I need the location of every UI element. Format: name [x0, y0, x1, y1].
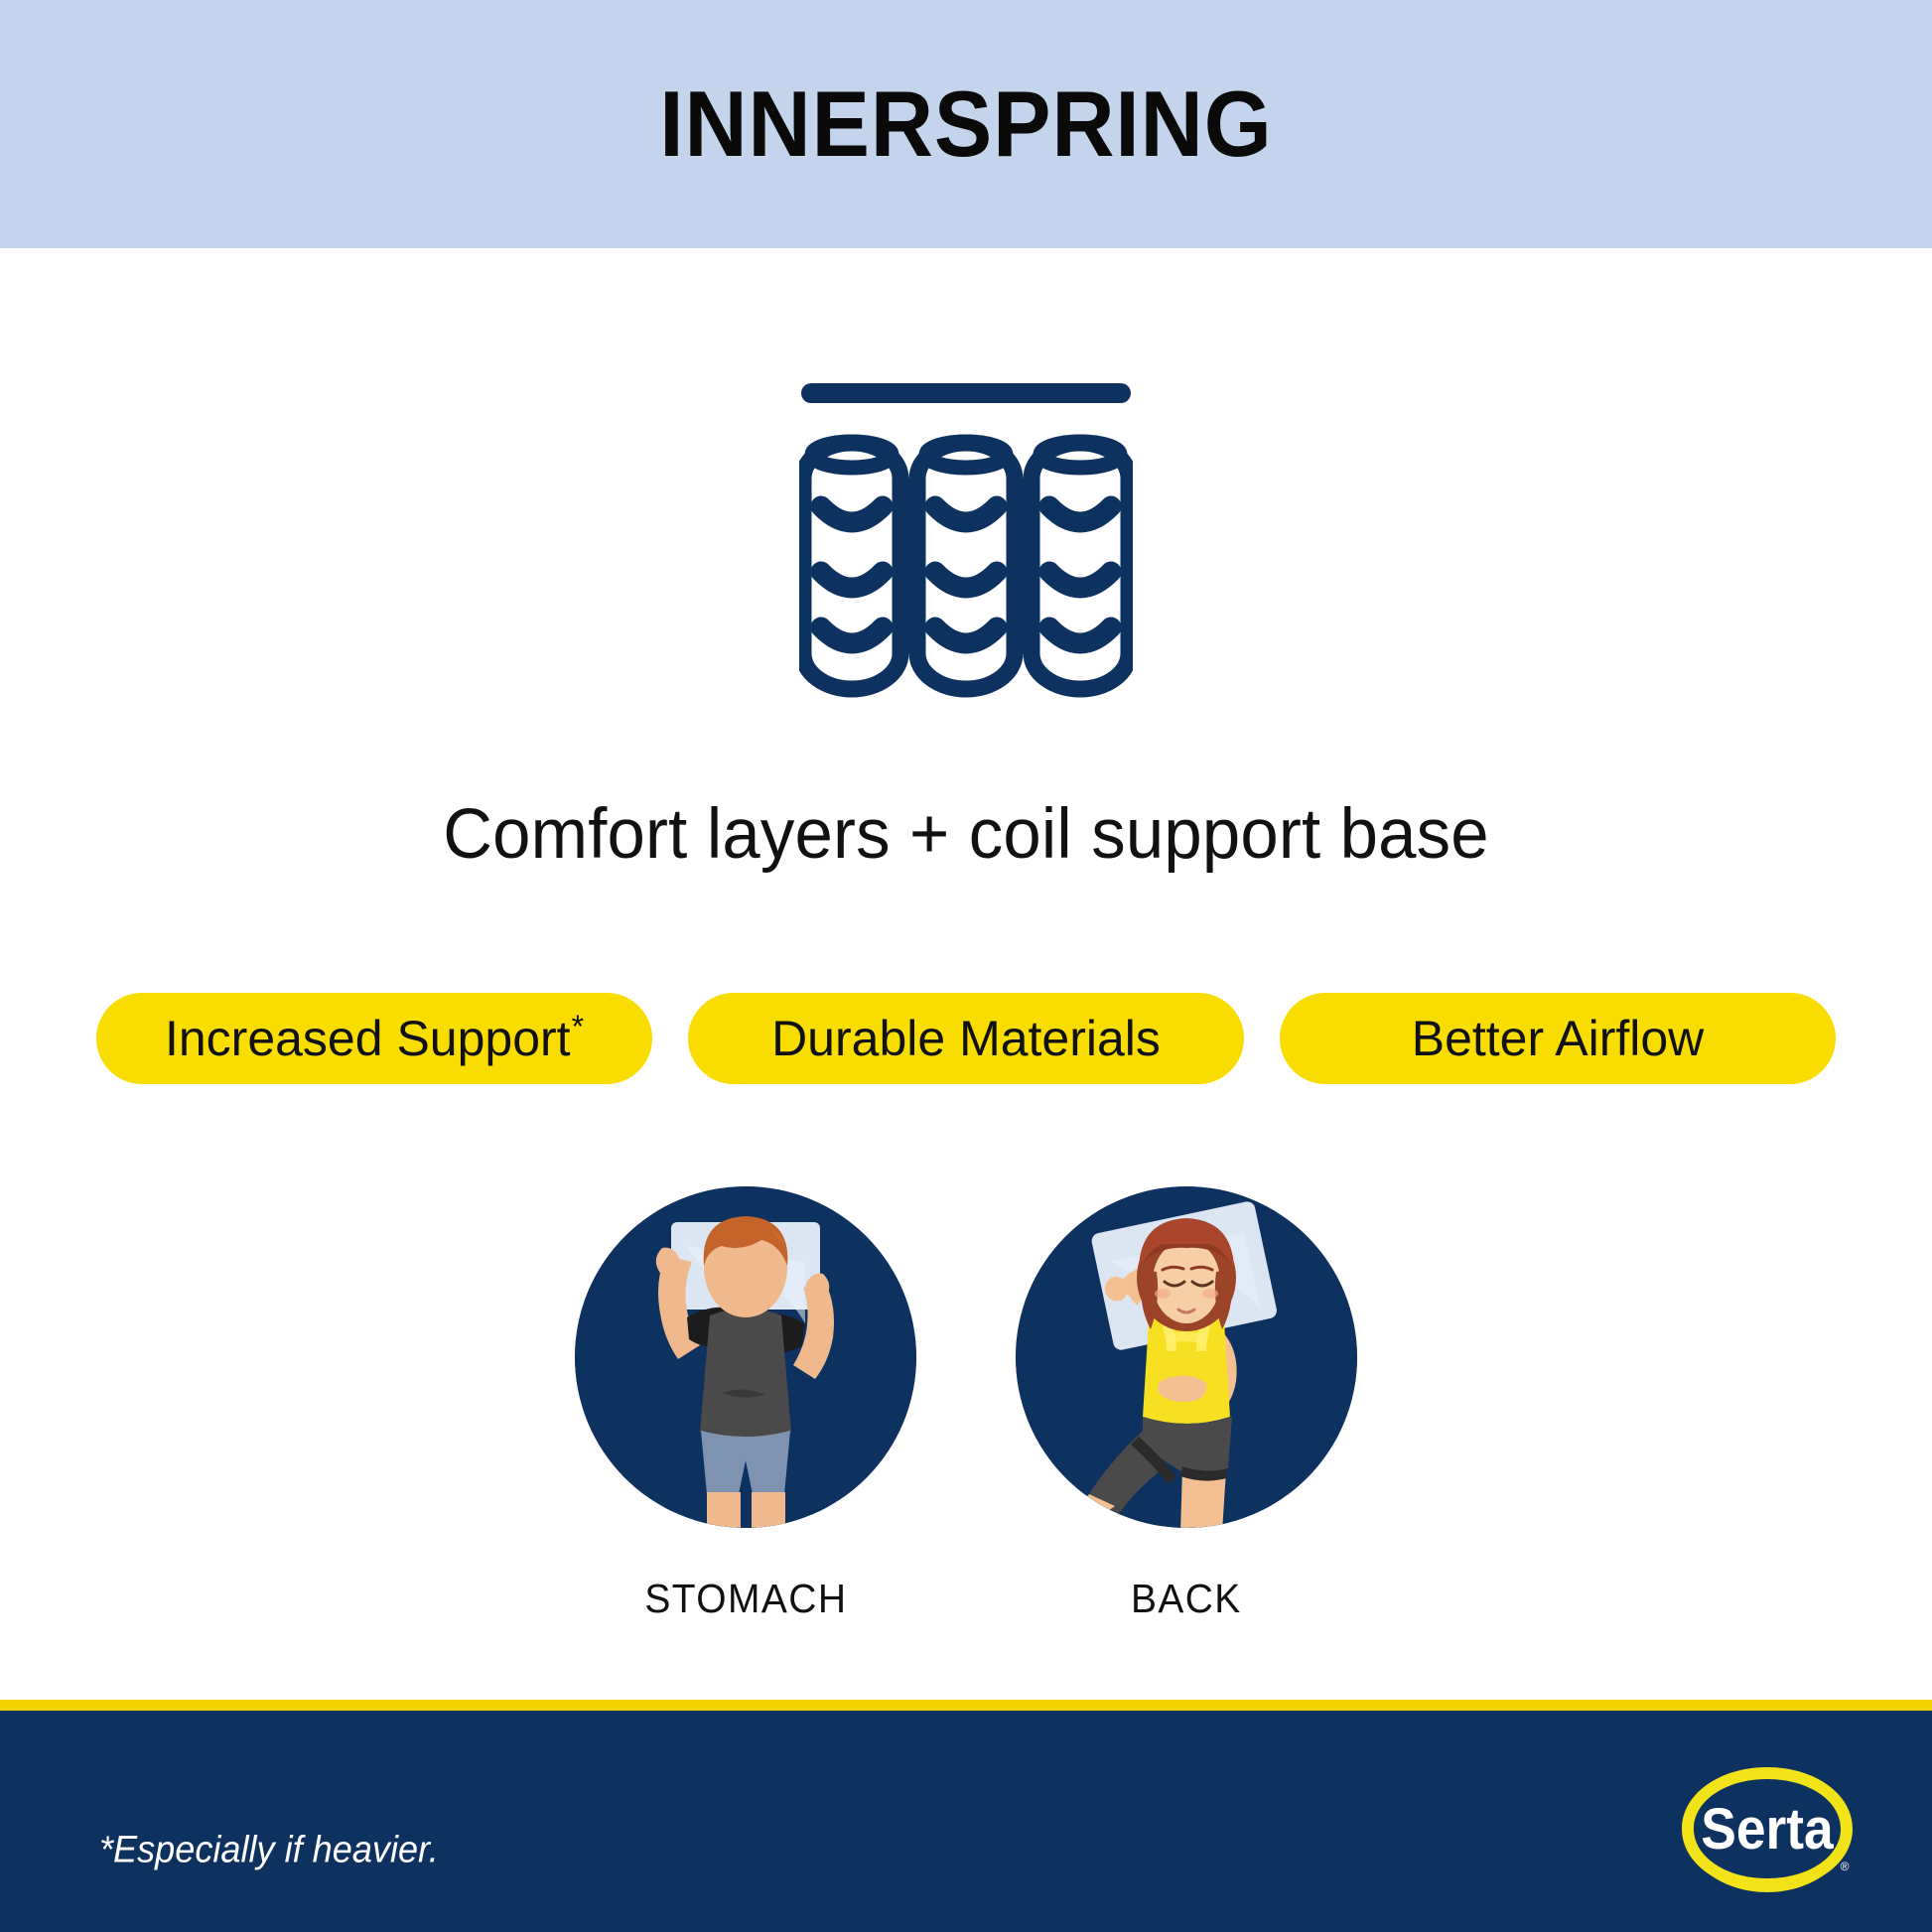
coil-top-bar — [801, 383, 1131, 403]
sleep-position-label: BACK — [1131, 1576, 1242, 1622]
footer-accent-stripe — [0, 1700, 1932, 1711]
page-footer — [0, 1711, 1932, 1932]
feature-pill-row: Increased Support* Durable Materials Bet… — [96, 993, 1836, 1084]
page-title: INNERSPRING — [659, 77, 1272, 171]
sleep-position-stomach[interactable]: STOMACH — [575, 1186, 916, 1622]
sleep-position-label: STOMACH — [644, 1576, 847, 1622]
serta-wordmark: Serta — [1701, 1797, 1834, 1862]
feature-pill-label: Better Airflow — [1412, 1010, 1705, 1067]
woman-sleeping-on-back-illustration — [1016, 1186, 1357, 1528]
man-sleeping-on-stomach-illustration — [575, 1186, 916, 1528]
subtitle-text: Comfort layers + coil support base — [29, 794, 1903, 875]
feature-pill-label: Durable Materials — [771, 1010, 1161, 1067]
stomach-sleeper-circle — [575, 1186, 916, 1528]
coil-cylinder-2 — [917, 442, 1015, 689]
footnote-text: *Especially if heavier. — [99, 1830, 439, 1872]
sleep-position-row: STOMACH — [0, 1186, 1932, 1622]
feature-pill-label: Increased Support — [165, 1010, 571, 1067]
innerspring-coils-icon — [799, 367, 1133, 705]
registered-trademark-mark: ® — [1841, 1860, 1850, 1873]
feature-pill-better-airflow[interactable]: Better Airflow — [1280, 993, 1836, 1084]
coil-cylinder-1 — [803, 442, 900, 689]
coil-icon-container — [0, 367, 1932, 705]
sleep-position-back[interactable]: BACK — [1016, 1186, 1357, 1622]
coil-cylinder-3 — [1032, 442, 1129, 689]
feature-pill-durable-materials[interactable]: Durable Materials — [688, 993, 1244, 1084]
serta-logo[interactable]: Serta ® — [1668, 1759, 1866, 1898]
back-sleeper-circle — [1016, 1186, 1357, 1528]
page-header: INNERSPRING — [0, 0, 1932, 248]
feature-pill-increased-support[interactable]: Increased Support* — [96, 993, 652, 1084]
